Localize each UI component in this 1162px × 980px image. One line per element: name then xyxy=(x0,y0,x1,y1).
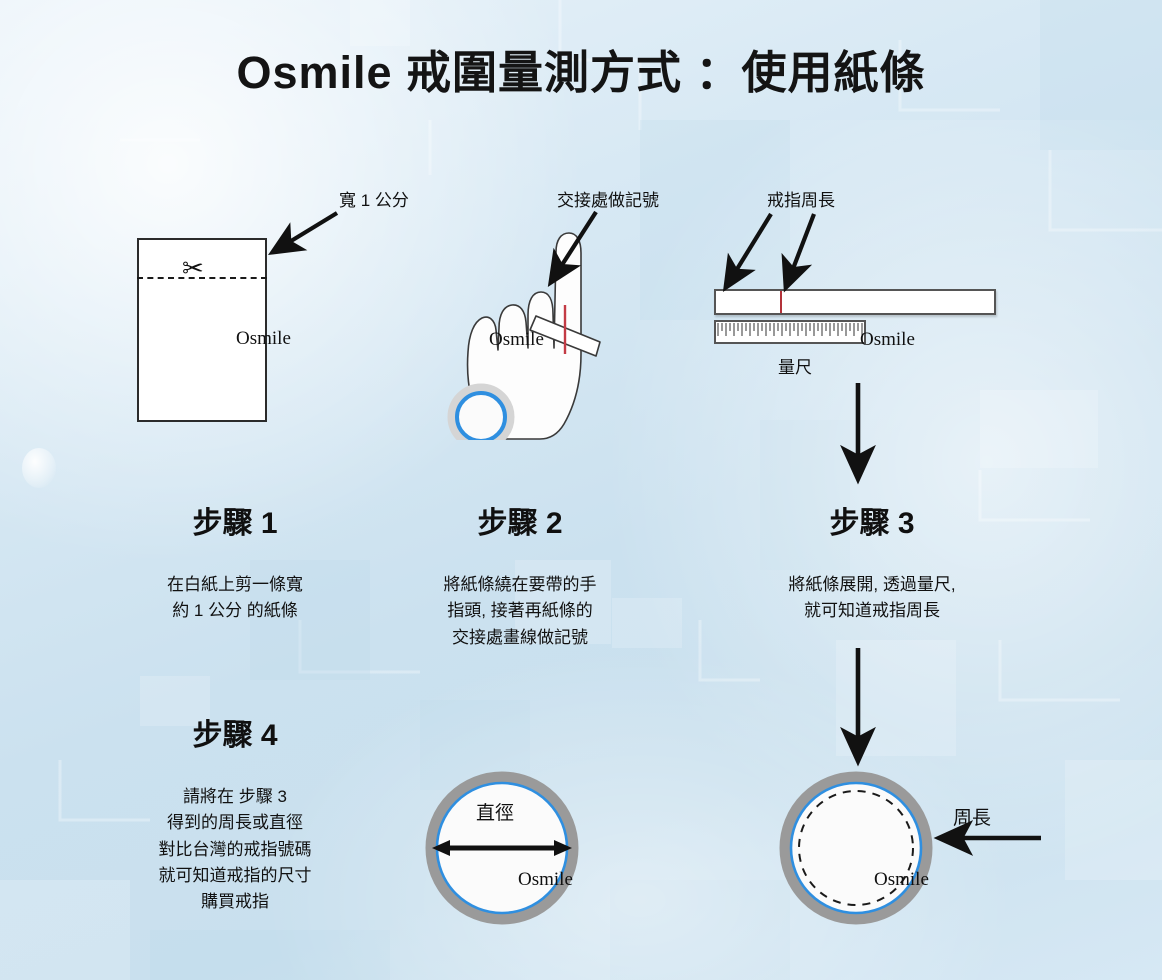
step-1-body: 在白紙上剪一條寬 約 1 公分 的紙條 xyxy=(95,572,375,625)
unrolled-paper-strip xyxy=(714,289,996,315)
scissors-icon: ✂ xyxy=(182,255,204,281)
callout-ring-circumference: 戒指周長 xyxy=(767,186,835,211)
ruler-tick-marks xyxy=(716,322,864,342)
step-3-heading: 步驟 3 xyxy=(737,498,1007,542)
watermark-paper: Osmile xyxy=(236,328,291,350)
step-3-body-line: 就可知道戒指周長 xyxy=(722,598,1022,624)
step-2-body-line: 交接處畫線做記號 xyxy=(380,625,660,651)
step-2-body-line: 將紙條繞在要帶的手 xyxy=(380,572,660,598)
step-1-body-line: 約 1 公分 的紙條 xyxy=(95,598,375,624)
step-4-body-line: 就可知道戒指的尺寸 xyxy=(95,863,375,889)
step-4-body: 請將在 步驟 3 得到的周長或直徑 對比台灣的戒指號碼 就可知道戒指的尺寸 購買… xyxy=(95,784,375,916)
callout-mark-at-overlap: 交接處做記號 xyxy=(557,186,659,211)
label-ruler: 量尺 xyxy=(778,353,812,378)
background-light-blob xyxy=(22,448,56,488)
step-2-body: 將紙條繞在要帶的手 指頭, 接著再紙條的 交接處畫線做記號 xyxy=(380,572,660,651)
step-2-body-line: 指頭, 接著再紙條的 xyxy=(380,598,660,624)
label-diameter: 直徑 xyxy=(476,798,514,825)
step-1-heading: 步驟 1 xyxy=(100,498,370,542)
watermark-diameter-ring: Osmile xyxy=(518,869,573,891)
step-4-body-line: 得到的周長或直徑 xyxy=(95,810,375,836)
step-4-body-line: 購買戒指 xyxy=(95,889,375,915)
step-3-body: 將紙條展開, 透過量尺, 就可知道戒指周長 xyxy=(722,572,1022,625)
watermark-hand: Osmile xyxy=(489,329,544,351)
wrist-ring xyxy=(452,388,510,440)
step-2-heading: 步驟 2 xyxy=(385,498,655,542)
infographic-page: Osmile 戒圍量測方式 ：使用紙條 ✂ Osmile 寬 1 公分 Osmi… xyxy=(0,0,1162,980)
step-1-body-line: 在白紙上剪一條寬 xyxy=(95,572,375,598)
step-3-body-line: 將紙條展開, 透過量尺, xyxy=(722,572,1022,598)
callout-width-1cm: 寬 1 公分 xyxy=(339,186,409,211)
watermark-ruler-area: Osmile xyxy=(860,329,915,351)
label-circumference: 周長 xyxy=(953,803,991,830)
page-title: Osmile 戒圍量測方式 ：使用紙條 xyxy=(0,36,1162,101)
step-4-heading: 步驟 4 xyxy=(100,710,370,754)
diameter-ring-diagram xyxy=(424,770,580,926)
circumference-ring-diagram xyxy=(778,770,934,926)
watermark-circumference-ring: Osmile xyxy=(874,869,929,891)
step-4-body-line: 對比台灣的戒指號碼 xyxy=(95,837,375,863)
step-4-body-line: 請將在 步驟 3 xyxy=(95,784,375,810)
paper-strip-red-mark xyxy=(780,291,782,313)
